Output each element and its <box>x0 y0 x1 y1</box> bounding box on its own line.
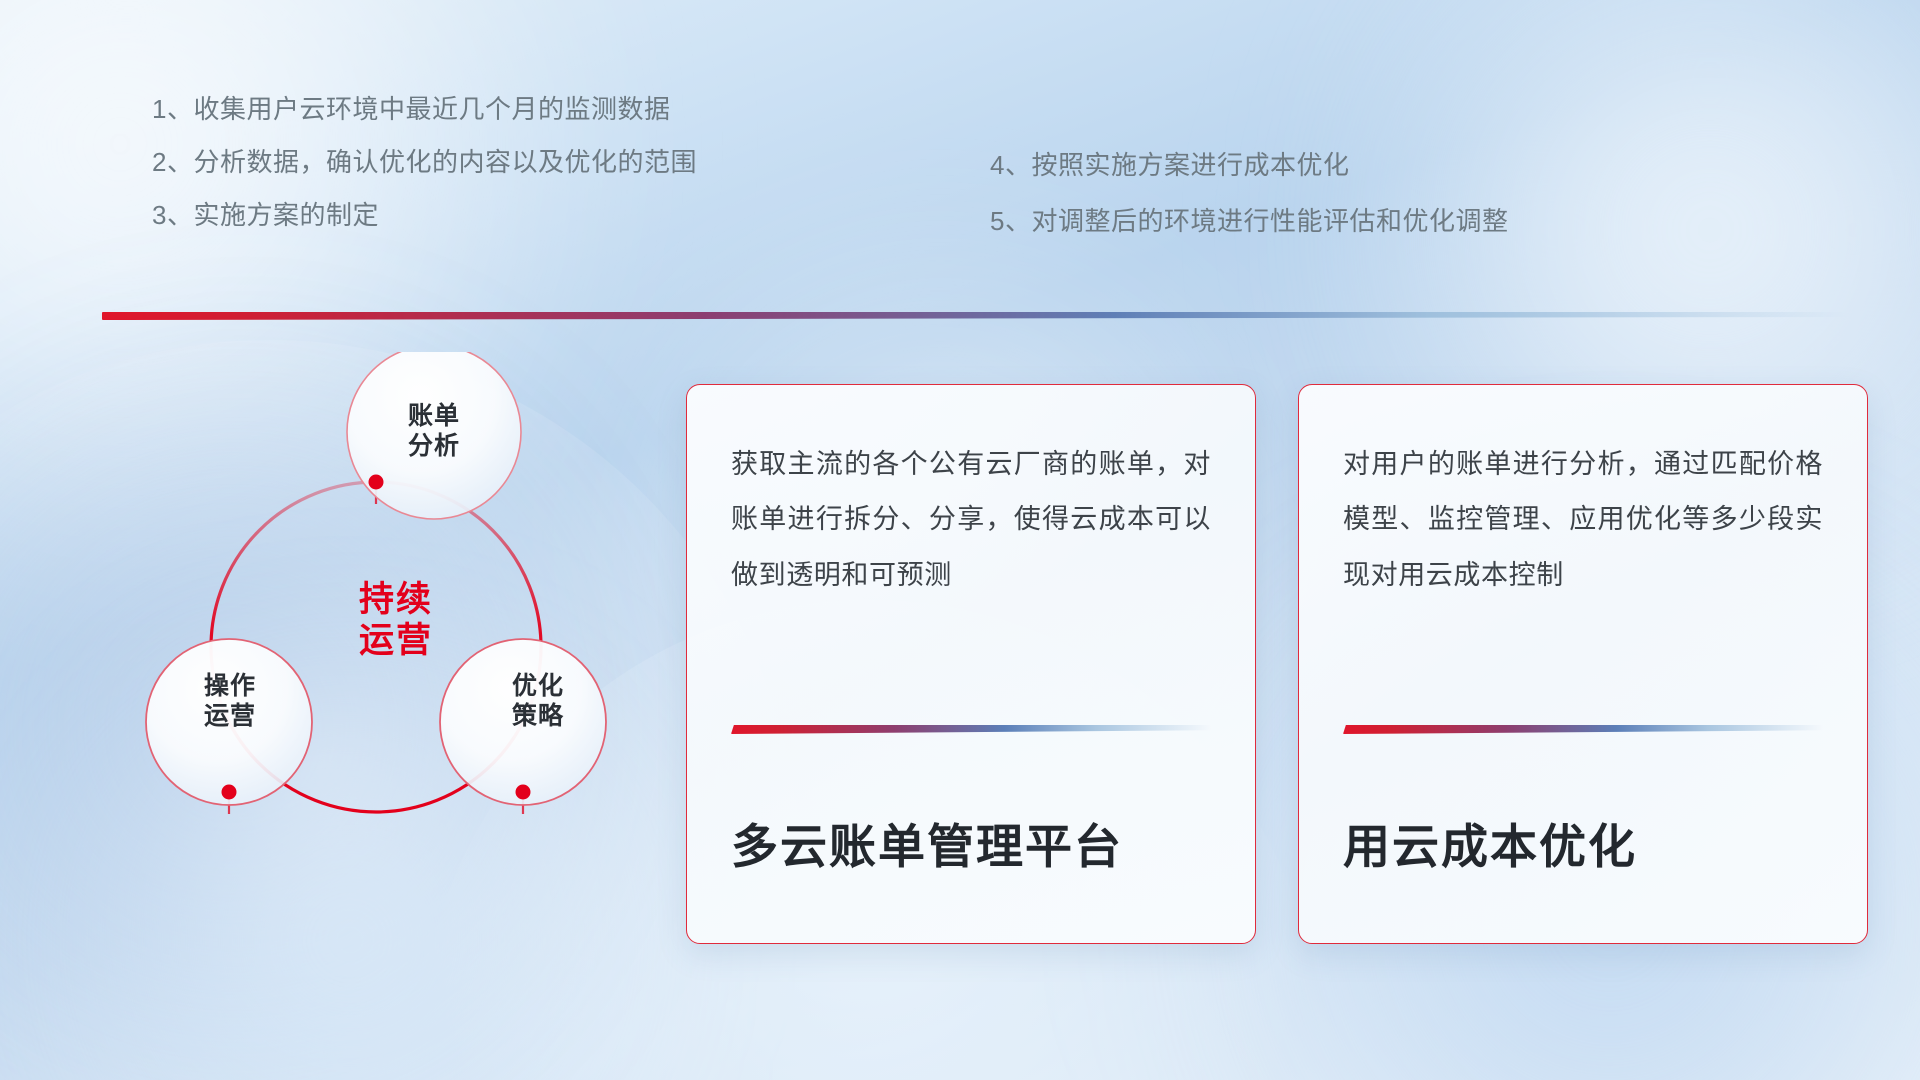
venn-svg <box>96 352 656 942</box>
steps-list-left: 1、收集用户云环境中最近几个月的监测数据 2、分析数据，确认优化的内容以及优化的… <box>152 96 697 255</box>
steps-list-right: 4、按照实施方案进行成本优化 5、对调整后的环境进行性能评估和优化调整 <box>990 152 1508 264</box>
card-title: 多云账单管理平台 <box>731 808 1211 877</box>
feature-card-cloud-cost-optimization[interactable]: 对用户的账单进行分析，通过匹配价格模型、监控管理、应用优化等多少段实现对用云成本… <box>1298 384 1868 944</box>
list-item: 4、按照实施方案进行成本优化 <box>990 152 1508 178</box>
card-divider <box>1343 725 1823 734</box>
venn-bubble-top <box>347 352 521 519</box>
venn-dot-top <box>369 475 384 490</box>
card-divider-bar <box>1343 725 1823 734</box>
venn-bubble-right <box>440 639 606 805</box>
divider-bar <box>102 312 1847 320</box>
card-divider <box>731 725 1211 734</box>
card-body-text: 获取主流的各个公有云厂商的账单，对账单进行拆分、分享，使得云成本可以做到透明和可… <box>731 437 1211 705</box>
venn-bubble-left <box>146 639 312 805</box>
venn-diagram: 账单 分析 操作 运营 优化 策略 持续 运营 <box>96 352 656 942</box>
card-body-text: 对用户的账单进行分析，通过匹配价格模型、监控管理、应用优化等多少段实现对用云成本… <box>1343 437 1823 705</box>
list-item: 2、分析数据，确认优化的内容以及优化的范围 <box>152 149 697 175</box>
list-item: 5、对调整后的环境进行性能评估和优化调整 <box>990 208 1508 234</box>
list-item: 3、实施方案的制定 <box>152 202 697 228</box>
feature-card-multicloud-billing[interactable]: 获取主流的各个公有云厂商的账单，对账单进行拆分、分享，使得云成本可以做到透明和可… <box>686 384 1256 944</box>
list-item: 1、收集用户云环境中最近几个月的监测数据 <box>152 96 697 122</box>
card-title: 用云成本优化 <box>1343 808 1823 877</box>
venn-dot-left <box>222 785 237 800</box>
section-divider <box>102 312 1847 320</box>
card-divider-bar <box>731 725 1211 734</box>
venn-dot-right <box>516 785 531 800</box>
